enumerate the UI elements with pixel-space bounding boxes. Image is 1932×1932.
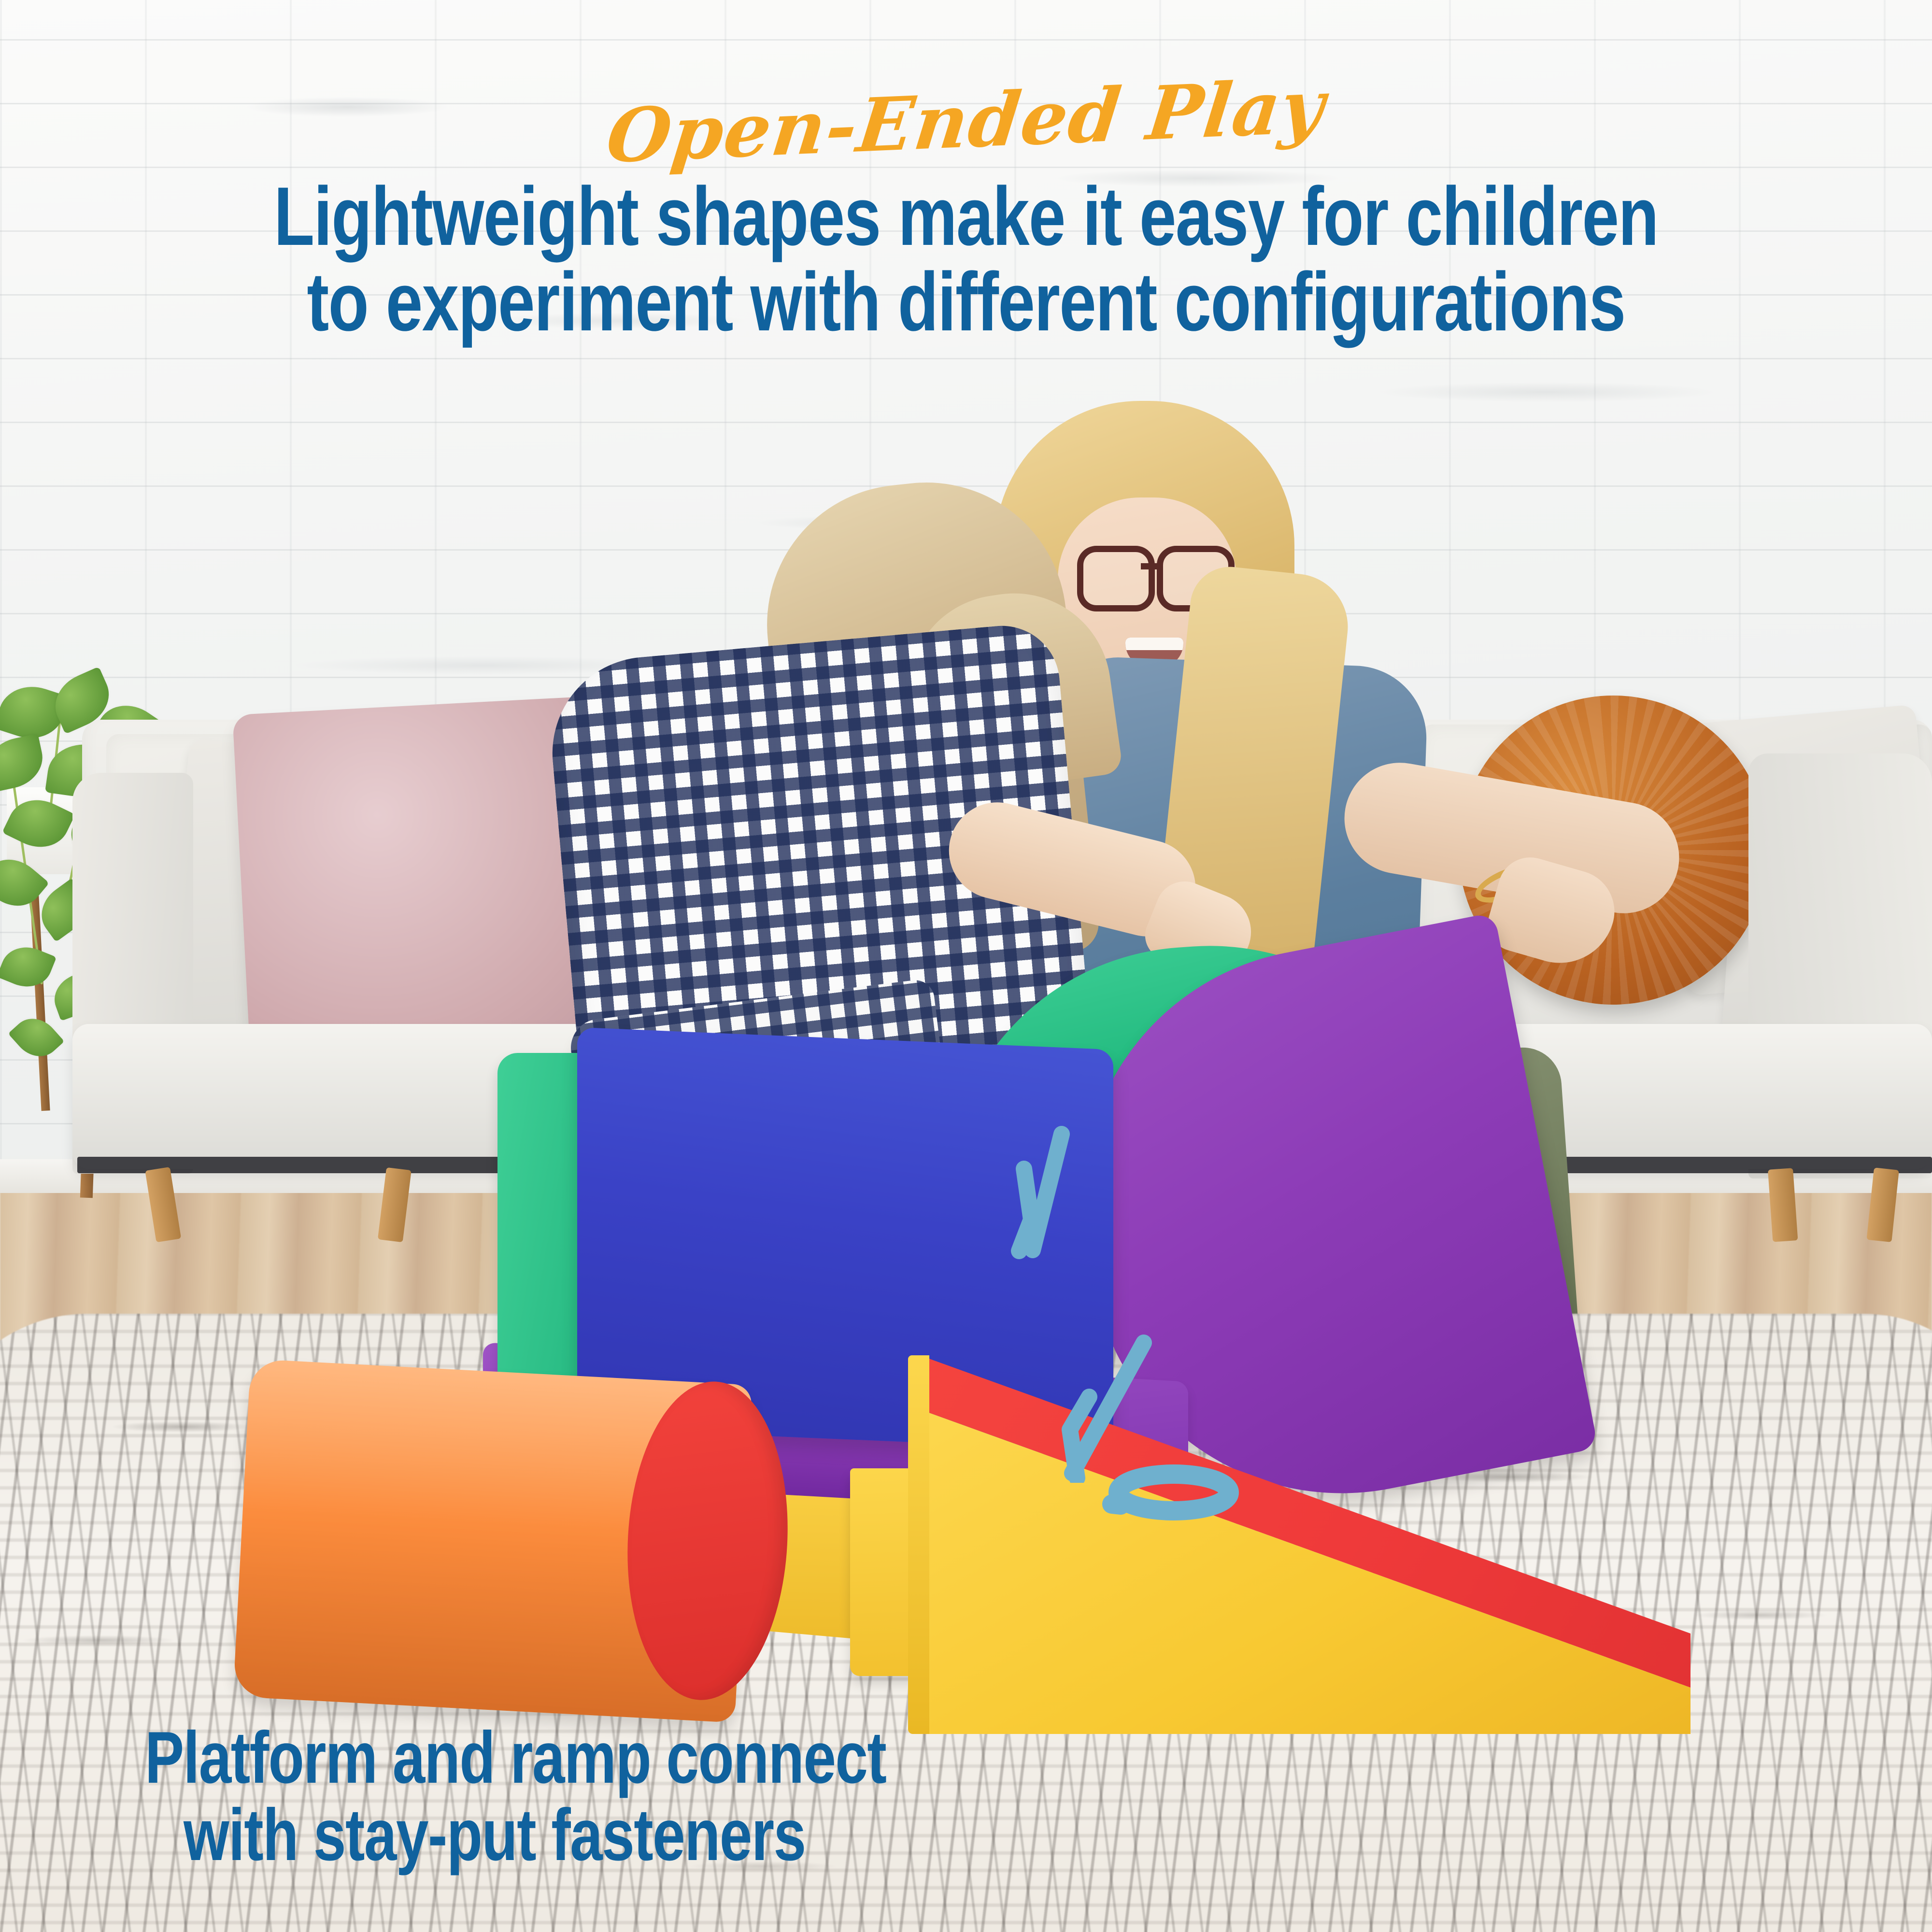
foam-ramp [908, 1348, 1690, 1734]
promo-image: Open-Ended Play Lightweight shapes make … [0, 0, 1932, 1932]
footnote-line-2: with stay-put fasteners [184, 1797, 806, 1874]
footnote-line-1: Platform and ramp connect [145, 1717, 886, 1799]
oval-circle-doodle [1101, 1459, 1246, 1526]
headline-line-2: to experiment with different configurati… [193, 259, 1739, 345]
sofa-leg-3 [1768, 1168, 1798, 1242]
page-footnote: Platform and ramp connect with stay-put … [145, 1719, 886, 1874]
page-headline: Lightweight shapes make it easy for chil… [193, 174, 1739, 345]
foam-ramp-edge [908, 1355, 929, 1734]
headline-line-1: Lightweight shapes make it easy for chil… [274, 170, 1658, 263]
check-mark-doodle-2 [1043, 1270, 1198, 1483]
